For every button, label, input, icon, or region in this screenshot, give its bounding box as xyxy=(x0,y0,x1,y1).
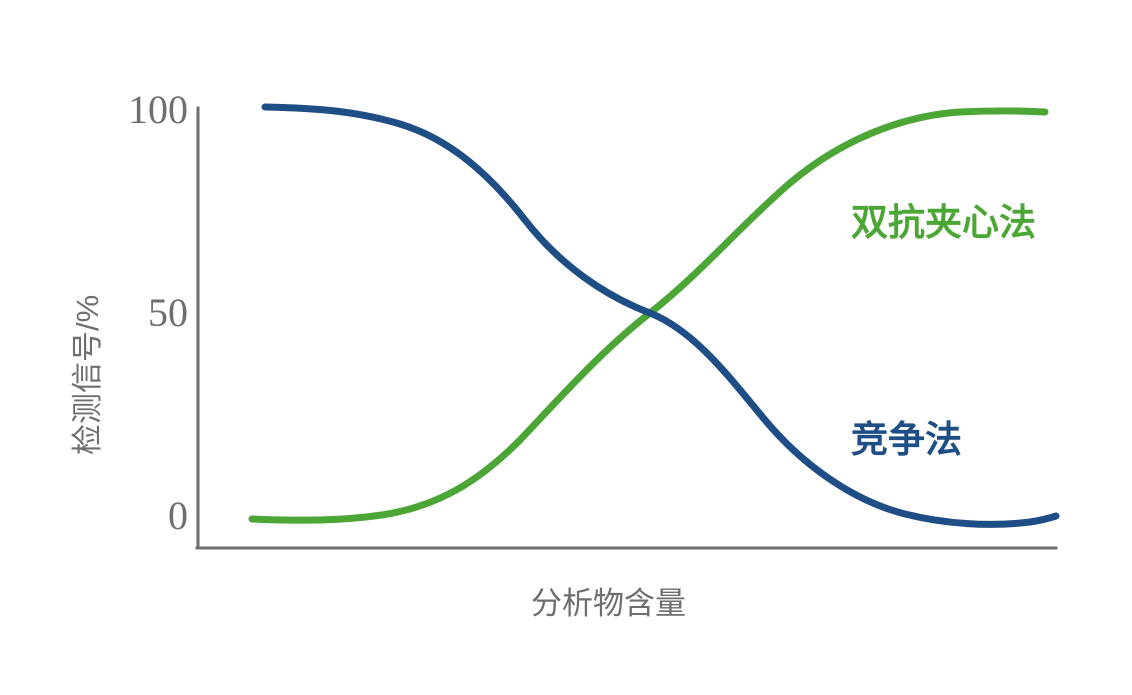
series-label-competitive: 竞争法 xyxy=(851,421,962,458)
series-line-blue xyxy=(265,107,1056,524)
y-tick-label-100: 100 xyxy=(88,90,188,130)
y-tick-label-0: 0 xyxy=(88,496,188,536)
x-axis-title: 分析物含量 xyxy=(531,588,686,619)
chart-container: 100 50 0 检测信号/% 分析物含量 双抗夹心法 竞争法 xyxy=(0,0,1132,695)
series-label-sandwich: 双抗夹心法 xyxy=(851,204,1036,241)
y-axis-title: 检测信号/% xyxy=(72,295,103,455)
